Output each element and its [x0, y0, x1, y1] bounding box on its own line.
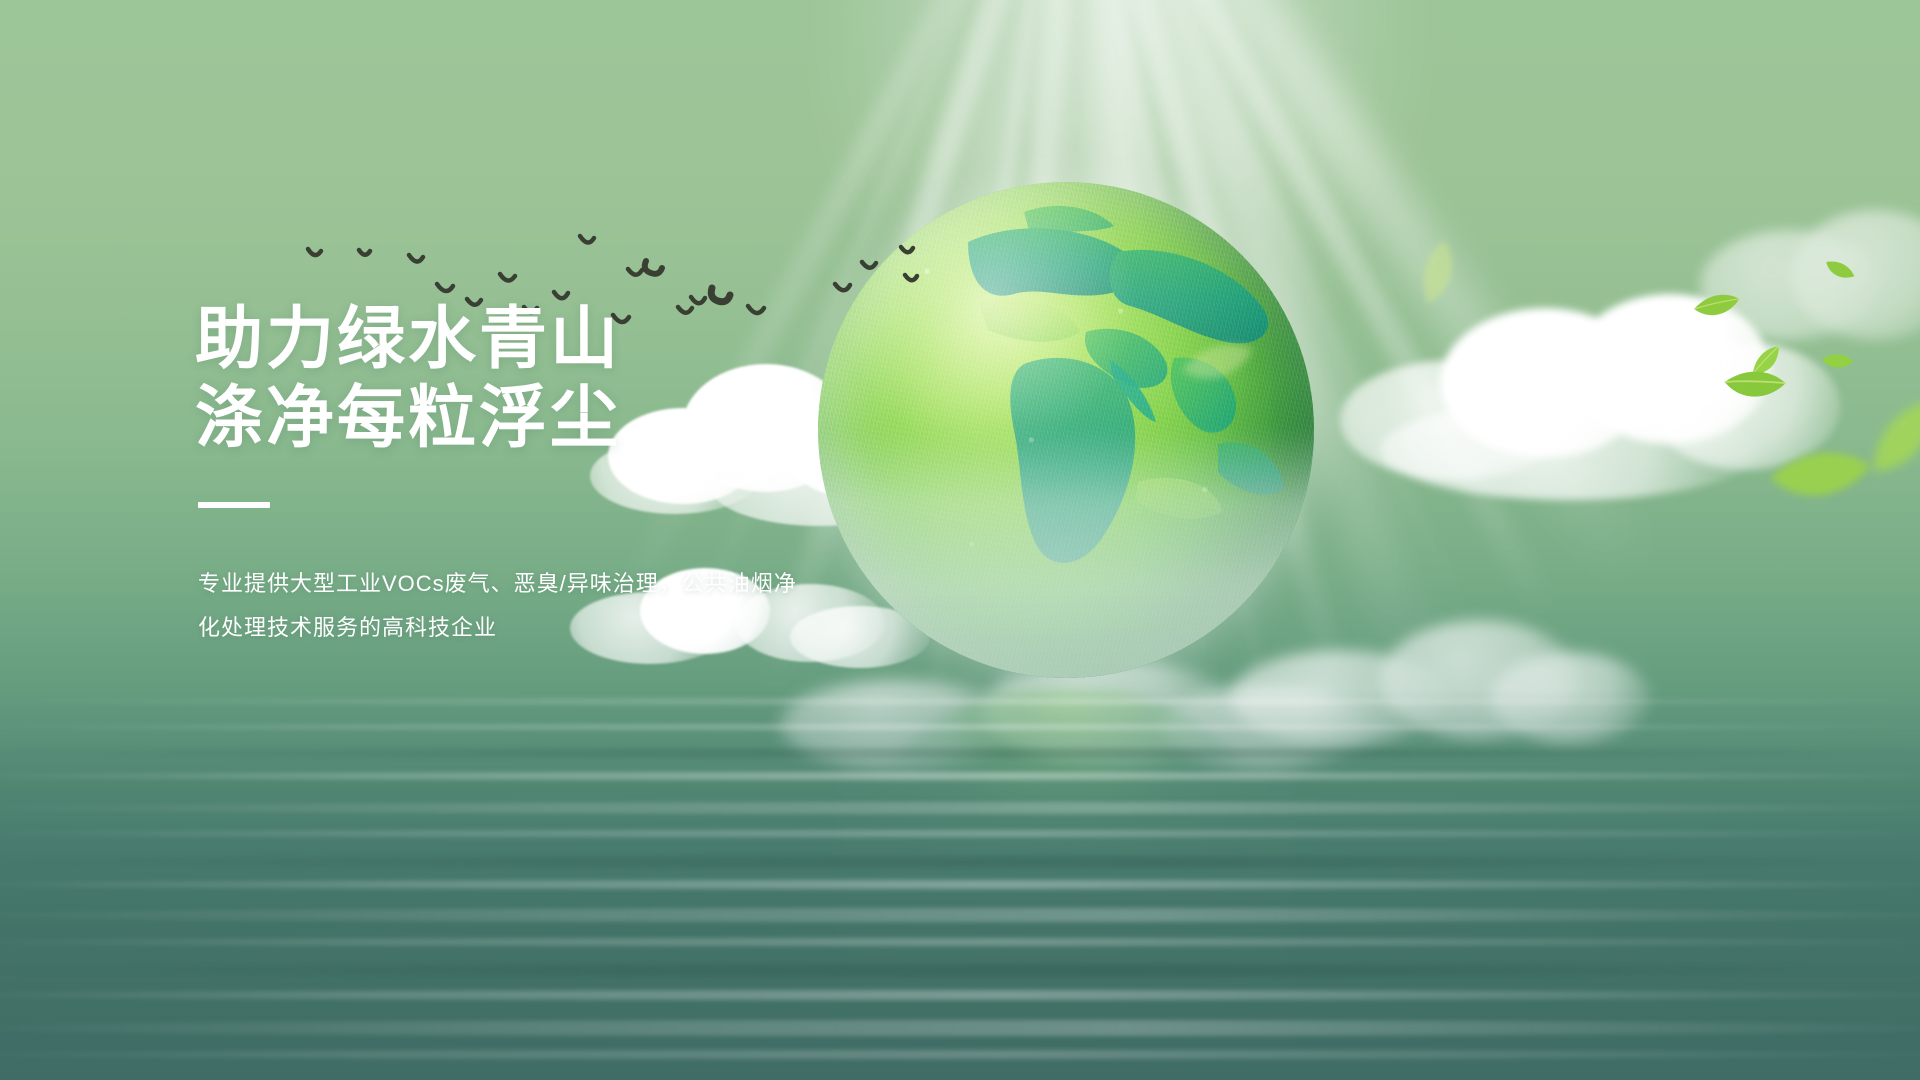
page-title: 助力绿水青山 涤净每粒浮尘 — [195, 300, 955, 458]
bird-icon — [437, 284, 453, 291]
subtitle-line-2: 化处理技术服务的高科技企业 — [198, 606, 838, 650]
leaf-icon — [1395, 232, 1482, 319]
cloud-right — [1320, 250, 1840, 520]
leaf-icon — [1745, 342, 1788, 385]
leaf-icon — [1815, 341, 1857, 383]
bird-icon — [500, 274, 515, 281]
bird-icon — [628, 269, 642, 275]
cloud-far-right — [1700, 190, 1920, 390]
leaf-icon — [1850, 390, 1920, 496]
hero-banner: 助力绿水青山 涤净每粒浮尘 专业提供大型工业VOCs废气、恶臭/异味治理，公共油… — [0, 0, 1920, 1080]
hero-subtitle: 专业提供大型工业VOCs废气、恶臭/异味治理，公共油烟净 化处理技术服务的高科技… — [198, 562, 838, 650]
hero-copy: 助力绿水青山 涤净每粒浮尘 专业提供大型工业VOCs废气、恶臭/异味治理，公共油… — [195, 300, 955, 650]
bird-icon — [359, 250, 370, 255]
headline-line-1: 助力绿水青山 — [195, 300, 955, 379]
headline-line-2: 涤净每粒浮尘 — [195, 379, 955, 458]
leaf-icon — [1818, 250, 1859, 291]
leaf-icon — [1711, 345, 1792, 426]
bird-icon — [645, 261, 662, 274]
leaf-icon — [1751, 413, 1881, 543]
bird-icon — [554, 292, 568, 298]
bird-icon — [580, 236, 594, 243]
subtitle-line-1: 专业提供大型工业VOCs废气、恶臭/异味治理，公共油烟净 — [198, 562, 838, 606]
water-surface — [0, 690, 1920, 1080]
globe-water-reflection — [838, 690, 1294, 990]
bird-icon — [409, 255, 423, 262]
leaf-icon — [1686, 278, 1743, 335]
title-divider — [198, 502, 270, 508]
bird-icon — [308, 249, 321, 255]
